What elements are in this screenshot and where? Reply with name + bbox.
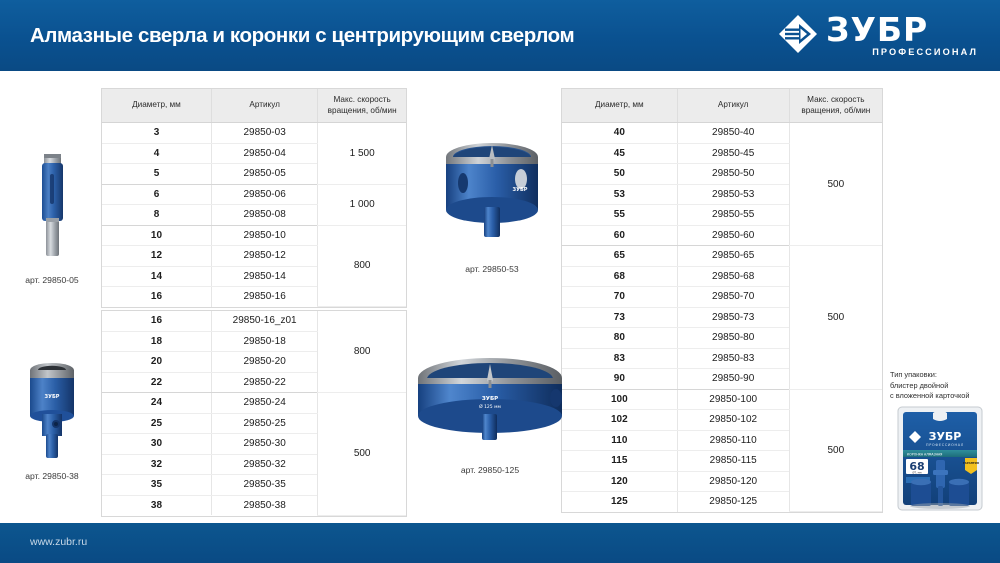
logo-subtitle: ПРОФЕССИОНАЛ [872, 47, 978, 57]
cell-article: 29850-04 [211, 143, 317, 164]
specs-table: Диаметр, мм Артикул Макс. скорость враще… [102, 89, 406, 307]
cell-diameter: 10 [102, 225, 211, 246]
cell-article: 29850-50 [677, 164, 789, 185]
svg-text:ЗУБР: ЗУБР [45, 394, 60, 400]
cell-article: 29850-12 [211, 246, 317, 267]
cell-article: 29850-125 [677, 492, 789, 512]
table-row: 10029850-100500 [562, 389, 882, 410]
cell-diameter: 60 [562, 225, 677, 246]
cell-article: 29850-03 [211, 123, 317, 144]
cell-diameter: 4 [102, 143, 211, 164]
table-row: 4029850-40500 [562, 123, 882, 144]
cell-max-speed: 800 [318, 311, 406, 393]
page-header: Алмазные сверла и коронки с центрирующим… [0, 0, 1000, 71]
th-speed-line2: вращения, об/мин [792, 106, 880, 117]
cell-diameter: 22 [102, 372, 211, 393]
cell-article: 29850-30 [211, 434, 317, 455]
cell-article: 29850-65 [677, 246, 789, 267]
specs-table: Диаметр, мм Артикул Макс. скорость враще… [562, 89, 882, 512]
page-title: Алмазные сверла и коронки с центрирующим… [30, 24, 574, 48]
figure-caption: арт. 29850-38 [6, 471, 98, 481]
cell-article: 29850-18 [211, 331, 317, 352]
cell-diameter: 53 [562, 184, 677, 205]
cell-article: 29850-22 [211, 372, 317, 393]
cell-diameter: 20 [102, 352, 211, 373]
cell-diameter: 65 [562, 246, 677, 267]
cell-article: 29850-08 [211, 205, 317, 226]
table-body: 4029850-405004529850-455029850-505329850… [562, 123, 882, 512]
svg-text:ЗУБР: ЗУБР [482, 396, 498, 402]
cell-diameter: 73 [562, 307, 677, 328]
packaging-note: Тип упаковки: блистер двойной с вложенно… [890, 370, 998, 402]
cell-diameter: 16 [102, 287, 211, 307]
table-header-row: Диаметр, мм Артикул Макс. скорость враще… [562, 89, 882, 123]
table-head: Диаметр, мм Артикул Макс. скорость враще… [102, 89, 406, 123]
table-head: Диаметр, мм Артикул Макс. скорость враще… [562, 89, 882, 123]
cell-article: 29850-45 [677, 143, 789, 164]
figure-drill-05: арт. 29850-05 [8, 148, 96, 285]
cell-article: 29850-110 [677, 430, 789, 451]
cell-max-speed: 500 [789, 246, 882, 390]
figure-drill-38: ЗУБР арт. 29850-38 [6, 358, 98, 481]
cell-diameter: 35 [102, 475, 211, 496]
cell-article: 29850-10 [211, 225, 317, 246]
cell-diameter: 110 [562, 430, 677, 451]
th-speed: Макс. скорость вращения, об/мин [318, 89, 406, 123]
diamond-core-bit-image-icon: ЗУБР [6, 358, 98, 462]
cell-diameter: 5 [102, 164, 211, 185]
cell-diameter: 16 [102, 311, 211, 331]
cell-diameter: 8 [102, 205, 211, 226]
th-speed-line1: Макс. скорость [320, 95, 404, 106]
cell-article: 29850-40 [677, 123, 789, 144]
blister-package-image: ЗУБР ПРОФЕССИОНАЛ КОРОНКА АЛМАЗНАЯ 68 ØТ… [897, 406, 983, 511]
cell-article: 29850-20 [211, 352, 317, 373]
cell-article: 29850-14 [211, 266, 317, 287]
logo-wordmark: ЗУБР [826, 10, 928, 49]
cell-article: 29850-16_z01 [211, 311, 317, 331]
cell-diameter: 38 [102, 495, 211, 515]
cell-diameter: 6 [102, 184, 211, 205]
cell-article: 29850-32 [211, 454, 317, 475]
cell-article: 29850-115 [677, 451, 789, 472]
figure-crown-53: ЗУБР арт. 29850-53 [428, 135, 556, 274]
cell-article: 29850-55 [677, 205, 789, 226]
cell-diameter: 12 [102, 246, 211, 267]
figure-crown-125: ЗУБР Ø 125 мм арт. 29850-125 [404, 352, 576, 475]
th-diameter: Диаметр, мм [102, 89, 211, 123]
cell-diameter: 90 [562, 369, 677, 390]
figure-caption: арт. 29850-53 [428, 264, 556, 274]
cell-diameter: 45 [562, 143, 677, 164]
table-row: 6529850-65500 [562, 246, 882, 267]
cell-max-speed: 500 [789, 123, 882, 246]
cell-diameter: 115 [562, 451, 677, 472]
diamond-hole-saw-large-image-icon: ЗУБР Ø 125 мм [404, 352, 576, 456]
blister-brand-sub: ПРОФЕССИОНАЛ [926, 443, 964, 447]
cell-article: 29850-35 [211, 475, 317, 496]
cell-diameter: 3 [102, 123, 211, 144]
cell-article: 29850-05 [211, 164, 317, 185]
cell-diameter: 50 [562, 164, 677, 185]
packaging-type-line1: блистер двойной [890, 381, 998, 392]
cell-max-speed: 1 000 [318, 184, 406, 225]
cell-article: 29850-90 [677, 369, 789, 390]
blister-brand: ЗУБР [929, 430, 962, 443]
cell-diameter: 32 [102, 454, 211, 475]
cell-diameter: 25 [102, 413, 211, 434]
th-speed-line2: вращения, об/мин [320, 106, 404, 117]
th-article: Артикул [211, 89, 317, 123]
cell-article: 29850-16 [211, 287, 317, 307]
page-root: Алмазные сверла и коронки с центрирующим… [0, 0, 1000, 563]
figure-caption: арт. 29850-125 [404, 465, 576, 475]
th-article: Артикул [677, 89, 789, 123]
cell-article: 29850-100 [677, 389, 789, 410]
cell-diameter: 100 [562, 389, 677, 410]
svg-text:Ø 125 мм: Ø 125 мм [479, 403, 501, 410]
table-row: 1629850-16_z01800 [102, 311, 406, 331]
th-speed-line1: Макс. скорость [792, 95, 880, 106]
cell-article: 29850-70 [677, 287, 789, 308]
specs-table: 1629850-16_z018001829850-182029850-20222… [102, 311, 406, 516]
cell-article: 29850-24 [211, 393, 317, 414]
packaging-type-line2: с вложенной карточкой [890, 391, 998, 402]
cell-diameter: 68 [562, 266, 677, 287]
footer-website-url[interactable]: www.zubr.ru [30, 536, 87, 548]
cell-article: 29850-06 [211, 184, 317, 205]
cell-article: 29850-60 [677, 225, 789, 246]
cell-article: 29850-38 [211, 495, 317, 515]
cell-diameter: 24 [102, 393, 211, 414]
cell-diameter: 18 [102, 331, 211, 352]
cell-article: 29850-120 [677, 471, 789, 492]
diamond-hole-saw-image-icon: ЗУБР [428, 135, 556, 255]
table-header-row: Диаметр, мм Артикул Макс. скорость враще… [102, 89, 406, 123]
table-row: 629850-061 000 [102, 184, 406, 205]
packaging-label: Тип упаковки: [890, 370, 998, 381]
zubr-diamond-arrow-logo-icon [778, 14, 818, 54]
th-diameter: Диаметр, мм [562, 89, 677, 123]
brand-logo: ЗУБР ПРОФЕССИОНАЛ [776, 13, 982, 61]
cell-article: 29850-102 [677, 410, 789, 431]
page-footer: www.zubr.ru [0, 523, 1000, 563]
svg-text:ГАРАНТИЯ: ГАРАНТИЯ [963, 461, 979, 465]
cell-article: 29850-68 [677, 266, 789, 287]
cell-article: 29850-53 [677, 184, 789, 205]
cell-diameter: 120 [562, 471, 677, 492]
cell-diameter: 55 [562, 205, 677, 226]
figure-caption: арт. 29850-05 [8, 275, 96, 285]
table-body: 329850-031 500429850-04529850-05629850-0… [102, 123, 406, 307]
cell-article: 29850-25 [211, 413, 317, 434]
cell-max-speed: 1 500 [318, 123, 406, 185]
cell-diameter: 83 [562, 348, 677, 369]
svg-text:КОРОНКА АЛМАЗНАЯ: КОРОНКА АЛМАЗНАЯ [907, 453, 942, 457]
cell-diameter: 102 [562, 410, 677, 431]
table-body: 1629850-16_z018001829850-182029850-20222… [102, 311, 406, 515]
table-row: 329850-031 500 [102, 123, 406, 144]
table-row: 2429850-24500 [102, 393, 406, 414]
cell-max-speed: 800 [318, 225, 406, 307]
svg-text:ЗУБР: ЗУБР [513, 187, 528, 193]
cell-max-speed: 500 [318, 393, 406, 516]
table-drills-small: Диаметр, мм Артикул Макс. скорость враще… [101, 88, 407, 308]
cell-diameter: 14 [102, 266, 211, 287]
cell-diameter: 70 [562, 287, 677, 308]
cell-diameter: 30 [102, 434, 211, 455]
table-row: 1029850-10800 [102, 225, 406, 246]
diamond-drill-bit-image-icon [8, 148, 96, 266]
cell-article: 29850-83 [677, 348, 789, 369]
table-drills-medium: 1629850-16_z018001829850-182029850-20222… [101, 310, 407, 517]
cell-diameter: 40 [562, 123, 677, 144]
cell-article: 29850-80 [677, 328, 789, 349]
table-crowns-large: Диаметр, мм Артикул Макс. скорость враще… [561, 88, 883, 513]
th-speed: Макс. скорость вращения, об/мин [789, 89, 882, 123]
cell-diameter: 125 [562, 492, 677, 512]
cell-article: 29850-73 [677, 307, 789, 328]
cell-max-speed: 500 [789, 389, 882, 512]
cell-diameter: 80 [562, 328, 677, 349]
